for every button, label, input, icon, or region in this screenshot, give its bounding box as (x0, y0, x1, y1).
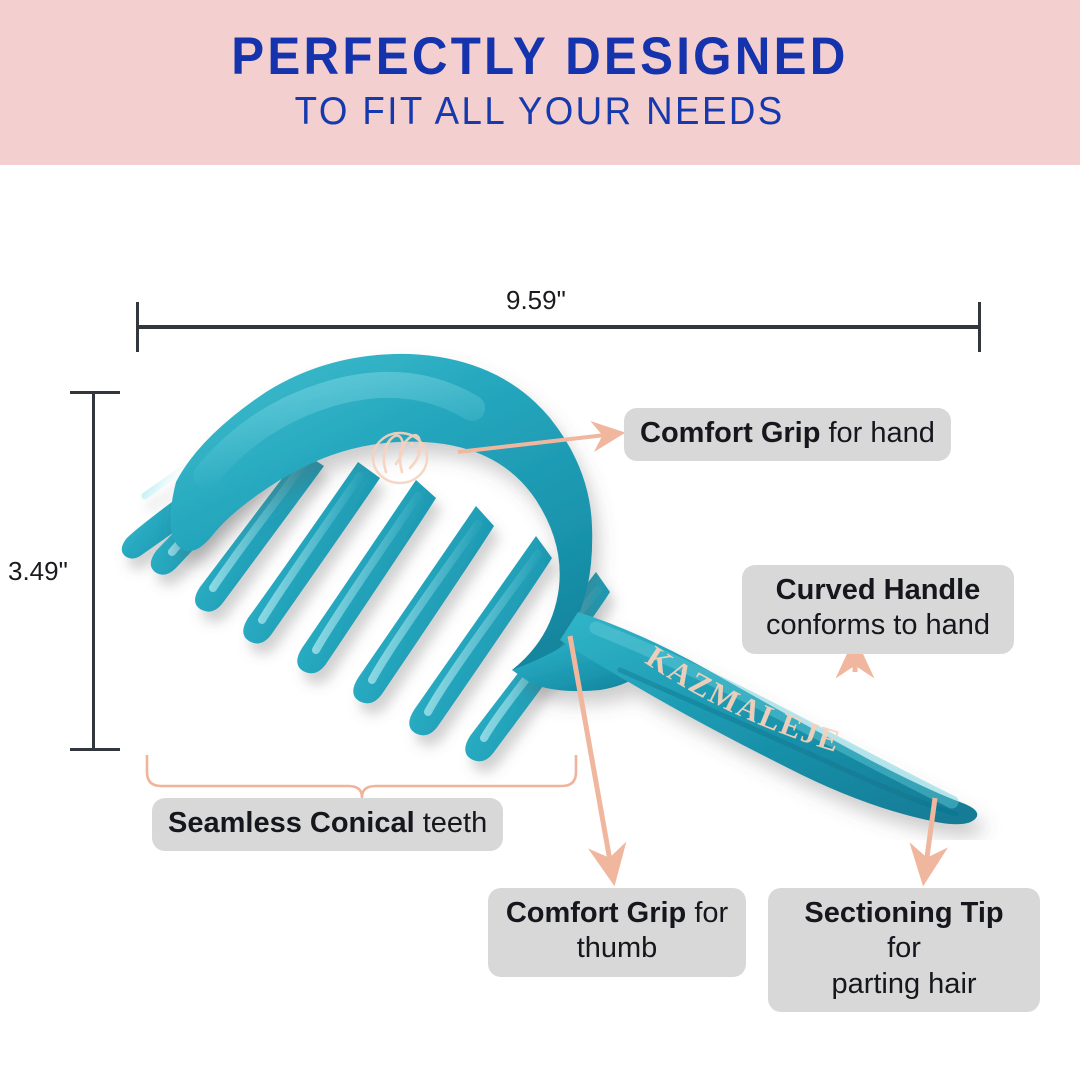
callout-comfort-grip-thumb: Comfort Grip for thumb (488, 888, 746, 977)
callout-regular-text: conforms to hand (766, 609, 990, 641)
dimension-width-line (136, 325, 981, 329)
callout-seamless-conical-teeth: Seamless Conical teeth (152, 798, 503, 851)
callout-regular-text-2: parting hair (831, 968, 976, 1000)
callout-bold-text: Curved Handle (776, 574, 981, 606)
callout-regular-text: for (887, 932, 921, 964)
dimension-height-label: 3.49" (8, 556, 68, 587)
comb-tooth (409, 536, 552, 735)
callout-regular-text: for hand (820, 417, 934, 449)
callout-bold-text: Comfort Grip (640, 417, 820, 449)
header-banner: PERFECTLY DESIGNED TO FIT ALL YOUR NEEDS (0, 0, 1080, 165)
callout-bold-text: Seamless Conical (168, 807, 415, 839)
callout-regular-text-2: thumb (577, 932, 658, 964)
callout-comfort-grip-hand: Comfort Grip for hand (624, 408, 951, 461)
callout-regular-text: teeth (415, 807, 488, 839)
dimension-width-label: 9.59" (506, 285, 566, 316)
callout-bold-text: Sectioning Tip (804, 897, 1003, 929)
page-title: PERFECTLY DESIGNED (231, 30, 848, 84)
callout-bold-text: Comfort Grip (506, 897, 686, 929)
callout-regular-text: for (686, 897, 728, 929)
callout-curved-handle: Curved Handle conforms to hand (742, 565, 1014, 654)
page-subtitle: TO FIT ALL YOUR NEEDS (295, 90, 785, 135)
callout-sectioning-tip: Sectioning Tip for parting hair (768, 888, 1040, 1012)
